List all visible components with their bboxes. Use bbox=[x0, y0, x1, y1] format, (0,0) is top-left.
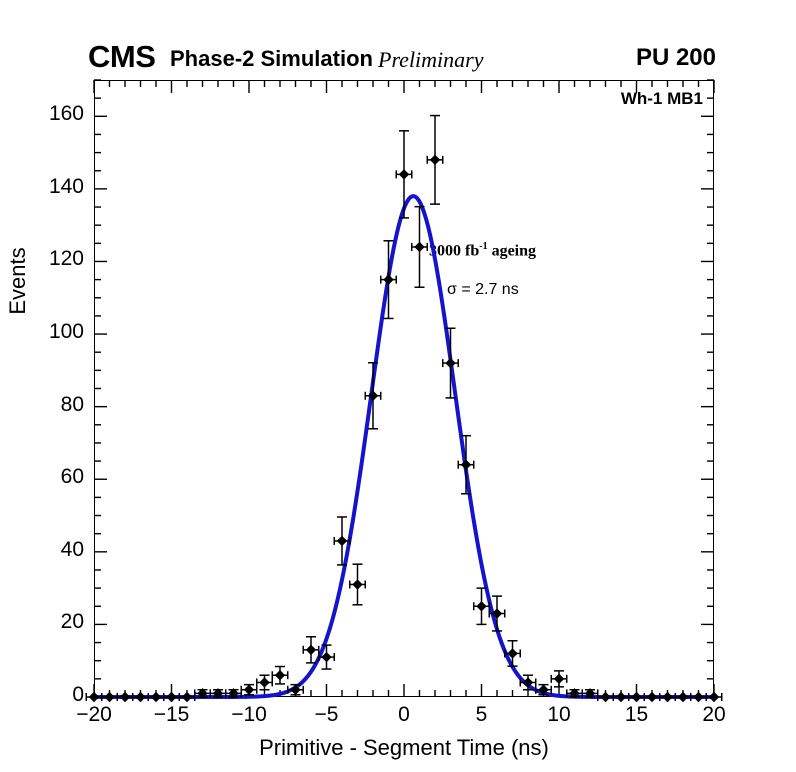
x-tick-label: −10 bbox=[219, 703, 279, 727]
y-tick-label: 120 bbox=[24, 247, 84, 271]
y-axis-title-wrap: Events bbox=[0, 0, 796, 772]
x-tick-label: 0 bbox=[374, 703, 434, 727]
plot-canvas: CMS Phase-2 Simulation Preliminary PU 20… bbox=[0, 0, 796, 772]
x-tick-label: −5 bbox=[297, 703, 357, 727]
y-tick-label: 80 bbox=[24, 393, 84, 417]
y-tick-label: 40 bbox=[24, 538, 84, 562]
x-tick-label: 10 bbox=[529, 703, 589, 727]
x-axis-title: Primitive - Segment Time (ns) bbox=[94, 735, 714, 761]
x-tick-label: 15 bbox=[607, 703, 667, 727]
y-tick-label: 140 bbox=[24, 175, 84, 199]
x-tick-label: 5 bbox=[452, 703, 512, 727]
y-tick-label: 160 bbox=[24, 102, 84, 126]
y-tick-label: 60 bbox=[24, 465, 84, 489]
y-tick-label: 20 bbox=[24, 610, 84, 634]
x-tick-label: −20 bbox=[64, 703, 124, 727]
x-tick-label: 20 bbox=[684, 703, 744, 727]
y-tick-label: 100 bbox=[24, 320, 84, 344]
x-tick-label: −15 bbox=[142, 703, 202, 727]
